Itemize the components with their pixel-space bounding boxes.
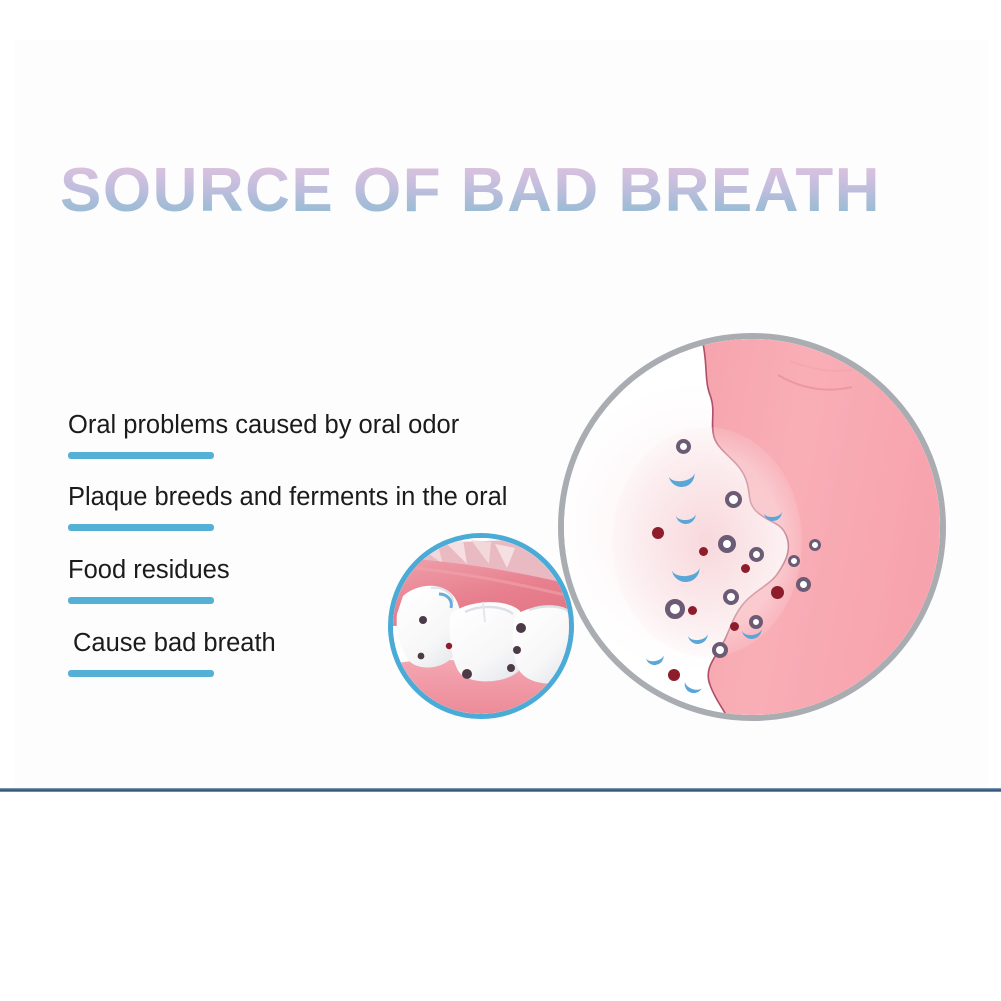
bacteria-ring-icon — [749, 547, 764, 562]
teeth-illustration — [393, 538, 569, 714]
plaque-haze — [612, 427, 802, 657]
bullet-underline-2 — [68, 524, 214, 531]
bacteria-dot-icon — [741, 564, 750, 573]
bacteria-dot-icon — [730, 622, 739, 631]
bullet-underline-4 — [68, 670, 214, 677]
bacteria-dot-icon — [652, 527, 664, 539]
bacteria-ring-icon — [725, 491, 742, 508]
bacteria-dot-icon — [699, 547, 708, 556]
bacteria-ring-icon — [796, 577, 811, 592]
bullet-label-1: Oral problems caused by oral odor — [68, 408, 568, 442]
bacteria-ring-icon — [788, 555, 800, 567]
gum-bacteria-closeup-circle — [558, 333, 946, 721]
bullet-underline-1 — [68, 452, 214, 459]
bullet-underline-3 — [68, 597, 214, 604]
bacteria-dot-icon — [688, 606, 697, 615]
bullet-label-2: Plaque breeds and ferments in the oral — [68, 480, 568, 514]
teeth-plaque-closeup-circle — [388, 533, 574, 719]
poster-canvas: SOURCE OF BAD BREATH Oral problems cause… — [0, 0, 1001, 1001]
page-title: SOURCE OF BAD BREATH — [60, 152, 950, 230]
bacteria-ring-icon — [718, 535, 736, 553]
bacteria-ring-icon — [809, 539, 821, 551]
list-item: Plaque breeds and ferments in the oral — [68, 480, 568, 531]
bacteria-ring-icon — [712, 642, 728, 658]
bacteria-dot-icon — [668, 669, 680, 681]
bottom-divider — [0, 788, 1001, 792]
bacteria-ring-icon — [676, 439, 691, 454]
bacteria-dot-icon — [771, 586, 784, 599]
list-item: Oral problems caused by oral odor — [68, 408, 568, 459]
bacteria-ring-icon — [723, 589, 739, 605]
bacteria-ring-icon — [665, 599, 685, 619]
